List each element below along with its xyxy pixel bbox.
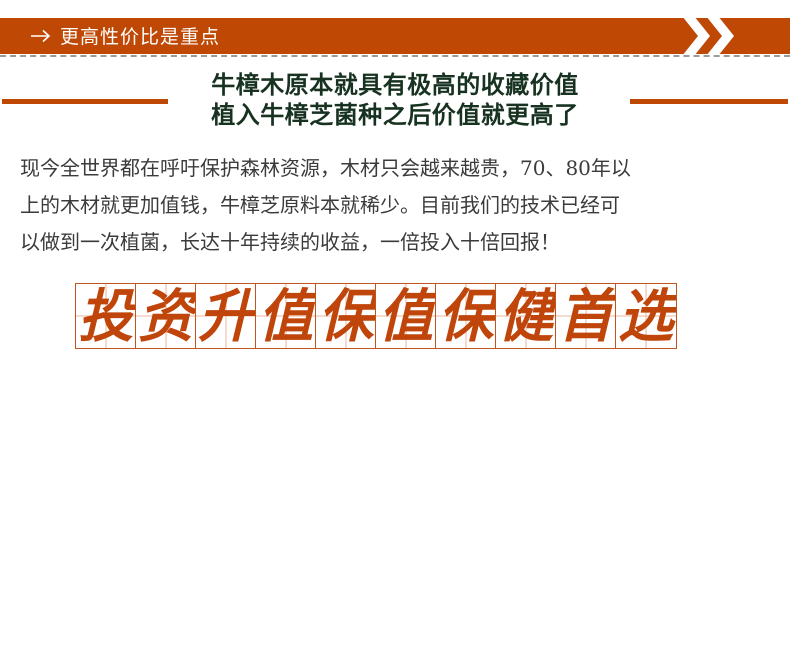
- arrow-right-icon: [30, 28, 52, 44]
- calligraphy-cell: 投: [75, 283, 137, 349]
- body-paragraph: 现今全世界都在呼吁保护森林资源，木材只会越来越贵，70、80年以 上的木材就更加…: [20, 150, 775, 261]
- double-chevron-right-icon: [680, 15, 738, 57]
- slide-title-block: 牛樟木原本就具有极高的收藏价值 植入牛樟芝菌种之后价值就更高了: [0, 70, 790, 136]
- calligraphy-cell: 值: [375, 283, 437, 349]
- body-line-3: 以做到一次植菌，长达十年持续的收益，一倍投入十倍回报！: [20, 224, 775, 261]
- calligraphy-character: 保: [315, 283, 376, 349]
- calligraphy-grid: 投 资 升 值 保 值 保 健 首 选: [75, 283, 690, 349]
- calligraphy-character: 投: [75, 283, 136, 349]
- calligraphy-cell: 资: [135, 283, 197, 349]
- calligraphy-cell: 保: [315, 283, 377, 349]
- body-line-1: 现今全世界都在呼吁保护森林资源，木材只会越来越贵，70、80年以: [20, 150, 775, 187]
- calligraphy-character: 值: [375, 283, 436, 349]
- page-title-line-1: 牛樟木原本就具有极高的收藏价值: [0, 70, 790, 100]
- header-divider: [0, 55, 790, 57]
- calligraphy-character: 保: [435, 283, 496, 349]
- header-band: 更高性价比是重点: [0, 18, 790, 54]
- calligraphy-character: 首: [555, 283, 616, 349]
- calligraphy-character: 资: [135, 283, 196, 349]
- calligraphy-cell: 升: [195, 283, 257, 349]
- calligraphy-cell: 健: [495, 283, 557, 349]
- calligraphy-character: 健: [495, 283, 556, 349]
- page-title-line-2: 植入牛樟芝菌种之后价值就更高了: [0, 100, 790, 130]
- calligraphy-character: 选: [615, 283, 676, 349]
- calligraphy-cell: 首: [555, 283, 617, 349]
- calligraphy-character: 值: [255, 283, 316, 349]
- page-title: 牛樟木原本就具有极高的收藏价值 植入牛樟芝菌种之后价值就更高了: [0, 70, 790, 130]
- calligraphy-cell: 选: [615, 283, 677, 349]
- calligraphy-cell: 值: [255, 283, 317, 349]
- body-line-2: 上的木材就更加值钱，牛樟芝原料本就稀少。目前我们的技术已经可: [20, 187, 775, 224]
- header-title: 更高性价比是重点: [60, 22, 220, 49]
- calligraphy-character: 升: [195, 283, 256, 349]
- calligraphy-cell: 保: [435, 283, 497, 349]
